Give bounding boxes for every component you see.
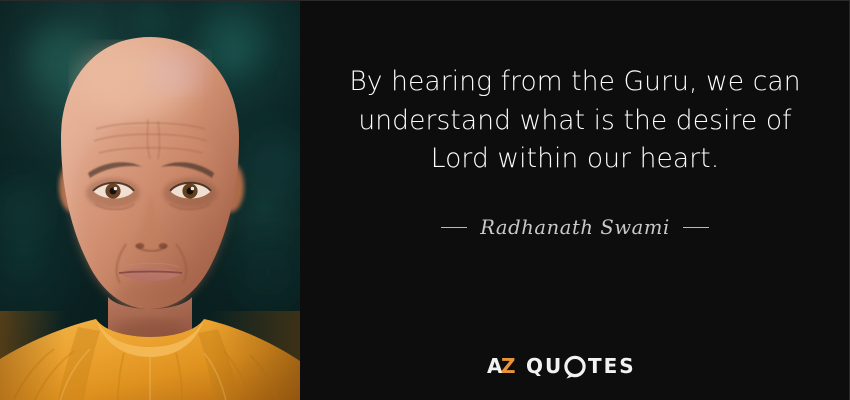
quote-line: Lord within our heart.	[330, 140, 820, 179]
logo-text-qu: QU	[526, 354, 563, 378]
quote-line: understand what is the desire of	[330, 102, 820, 141]
logo-letter-z: Z	[501, 354, 516, 378]
attribution: Radhanath Swami	[300, 216, 850, 239]
az-quotes-logo[interactable]: A Z QU TES	[300, 353, 850, 379]
logo-text-tes: TES	[588, 354, 636, 378]
quote-card: By hearing from the Guru, we can underst…	[0, 0, 850, 400]
logo-speech-bubble-o-icon	[566, 357, 584, 378]
quote-content-panel: By hearing from the Guru, we can underst…	[300, 1, 850, 400]
quote-text: By hearing from the Guru, we can underst…	[300, 63, 850, 179]
attribution-dash-right	[683, 227, 709, 228]
author-portrait-image	[0, 1, 300, 400]
attribution-dash-left	[441, 227, 467, 228]
attribution-author-name: Radhanath Swami	[480, 216, 670, 239]
quote-line: By hearing from the Guru, we can	[330, 63, 820, 102]
